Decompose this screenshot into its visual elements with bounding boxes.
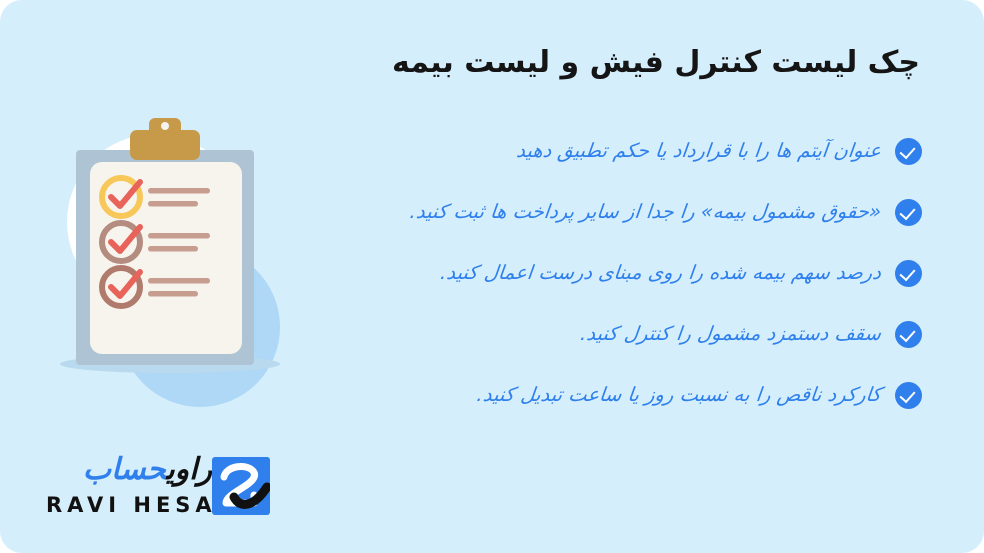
paper-line [148, 291, 198, 297]
logo-persian-blue: حساب [83, 452, 167, 487]
list-item: درصد سهم بیمه شده را روی مبنای درست اعما… [282, 250, 922, 296]
checklist-item-text: درصد سهم بیمه شده را روی مبنای درست اعما… [281, 260, 883, 286]
logo-persian-dark: راوی [166, 452, 212, 487]
poster-canvas: چک لیست کنترل فیش و لیست بیمه عنوان آیتم… [0, 0, 984, 553]
checklist-item-text: کارکرد ناقص را به نسبت روز یا ساعت تبدیل… [281, 382, 883, 408]
list-item: سقف دستمزد مشمول را کنترل کنید. [282, 311, 922, 357]
checklist-item-text: سقف دستمزد مشمول را کنترل کنید. [281, 321, 883, 347]
checklist: عنوان آیتم ها را با قرارداد یا حکم تطبیق… [282, 128, 922, 433]
list-item: عنوان آیتم ها را با قرارداد یا حکم تطبیق… [282, 128, 922, 174]
list-item: کارکرد ناقص را به نسبت روز یا ساعت تبدیل… [282, 372, 922, 418]
clipboard-checklist-illustration [50, 112, 300, 412]
check-circle-icon [895, 199, 922, 226]
clipboard-clip-hole [161, 122, 169, 130]
page-title: چک لیست کنترل فیش و لیست بیمه [280, 44, 920, 82]
check-circle-icon [895, 138, 922, 165]
logo-persian-text: راویحساب [83, 455, 212, 485]
logo-latin-text: RAVI HESAB [46, 493, 238, 517]
check-circle-icon [895, 321, 922, 348]
checklist-item-text: عنوان آیتم ها را با قرارداد یا حکم تطبیق… [281, 138, 883, 164]
list-item: «حقوق مشمول بیمه» را جدا از سایر پرداخت … [282, 189, 922, 235]
paper-line [148, 201, 198, 207]
paper-line [148, 233, 210, 239]
paper-line [148, 246, 198, 252]
ravi-hesab-logo[interactable]: راویحساب RAVI HESAB [40, 455, 270, 535]
paper-line [148, 188, 210, 194]
checklist-item-text: «حقوق مشمول بیمه» را جدا از سایر پرداخت … [281, 199, 883, 225]
logo-mark-icon [212, 457, 270, 515]
paper-line [148, 278, 210, 284]
check-circle-icon [895, 382, 922, 409]
check-circle-icon [895, 260, 922, 287]
